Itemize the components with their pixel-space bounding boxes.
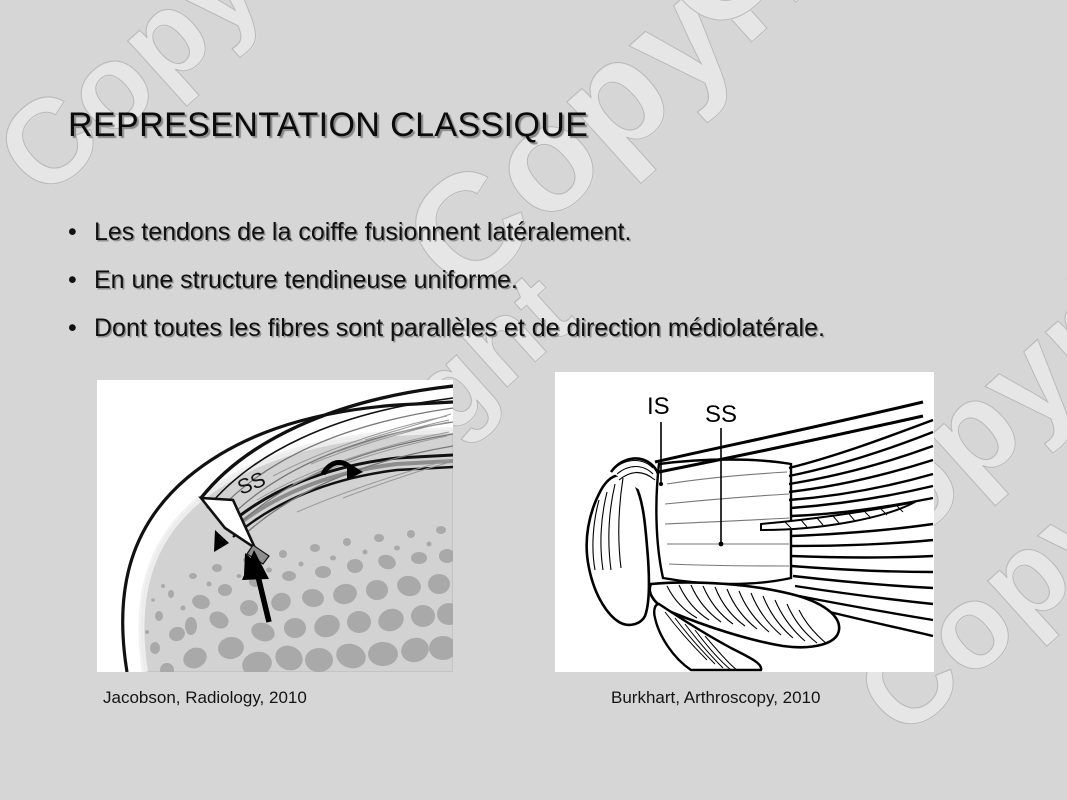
list-item: • Les tendons de la coiffe fusionnent la… bbox=[64, 218, 1024, 252]
figure-jacobson: SS bbox=[97, 380, 453, 672]
slide-canvas: REPRESENTATION CLASSIQUE • Les tendons d… bbox=[0, 0, 1067, 800]
list-item: • Dont toutes les fibres sont parallèles… bbox=[64, 314, 1024, 348]
bullet-list: • Les tendons de la coiffe fusionnent la… bbox=[64, 218, 1024, 362]
jacobson-illustration: SS bbox=[97, 380, 453, 672]
figure-caption-burkhart: Burkhart, Arthroscopy, 2010 bbox=[611, 688, 820, 708]
bullet-marker-icon: • bbox=[64, 316, 94, 341]
label-is: IS bbox=[647, 393, 670, 420]
figure-caption-jacobson: Jacobson, Radiology, 2010 bbox=[103, 688, 307, 708]
burkhart-illustration: IS SS bbox=[555, 372, 934, 672]
bullet-marker-icon: • bbox=[64, 268, 94, 293]
bullet-marker-icon: • bbox=[64, 220, 94, 245]
bullet-text: En une structure tendineuse uniforme. bbox=[94, 266, 518, 295]
leader-dot-ss bbox=[719, 542, 724, 547]
bullet-text: Dont toutes les fibres sont parallèles e… bbox=[94, 314, 825, 343]
page-title: REPRESENTATION CLASSIQUE bbox=[68, 106, 588, 145]
list-item: • En une structure tendineuse uniforme. bbox=[64, 266, 1024, 300]
leader-dot-is bbox=[659, 482, 663, 486]
label-ss: SS bbox=[705, 401, 737, 428]
bullet-text: Les tendons de la coiffe fusionnent laté… bbox=[94, 218, 631, 247]
figure-burkhart: IS SS bbox=[555, 372, 934, 672]
